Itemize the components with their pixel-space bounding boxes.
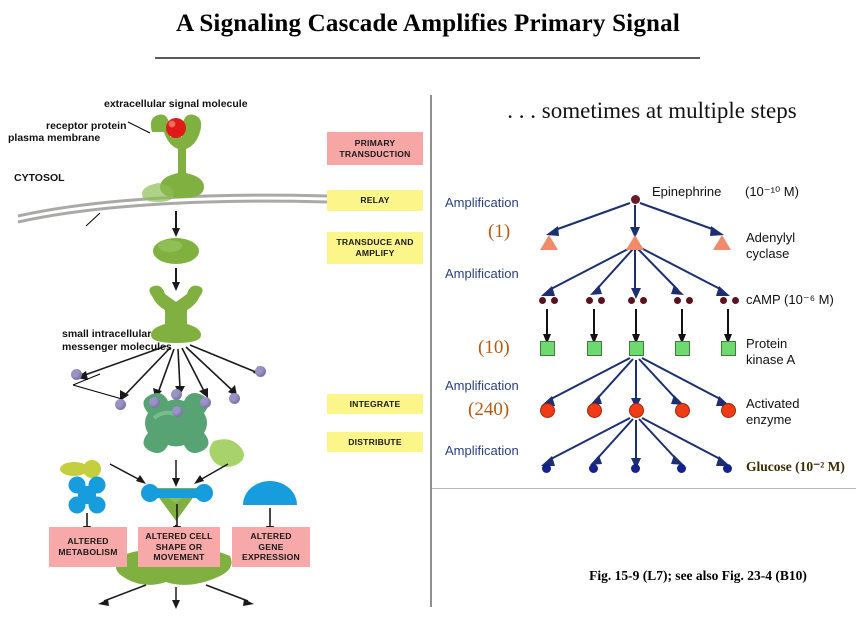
row-label-glucose: Glucose (10⁻² M) [746, 459, 845, 476]
stage-box-line1: DISTRIBUTE [348, 437, 402, 448]
messenger-molecule-dot [200, 397, 211, 408]
effector-dumbbell-shape [141, 484, 213, 502]
node-camp [539, 297, 546, 304]
right-panel-rule [432, 488, 856, 489]
node-camp [720, 297, 727, 304]
node-epinephrine [631, 195, 640, 204]
messenger-molecule-dot [149, 397, 160, 408]
messenger-molecule-dot [171, 389, 182, 400]
node-adenylyl-cyclase [626, 235, 644, 250]
node-protein-kinase-a [540, 341, 555, 356]
node-camp [640, 297, 647, 304]
effector-dome-shape [243, 481, 297, 505]
title-divider [155, 57, 700, 59]
stage-box-primary-transduction: PRIMARY TRANSDUCTION [327, 132, 423, 165]
node-glucose [589, 464, 598, 473]
outcome-line3: MOVEMENT [153, 552, 204, 562]
messenger-molecule-dot [115, 399, 126, 410]
messenger-molecule-dot [229, 393, 240, 404]
node-camp [732, 297, 739, 304]
label-messenger-molecules-line1: small intracellular [62, 328, 151, 340]
node-activated-enzyme [629, 403, 644, 418]
node-glucose [631, 464, 640, 473]
label-cytosol: CYTOSOL [14, 172, 65, 184]
label-plasma-membrane: plasma membrane [8, 132, 100, 144]
stage-box-line1: TRANSDUCE AND [336, 237, 413, 247]
page-title: A Signaling Cascade Amplifies Primary Si… [0, 10, 856, 38]
row-label-activated-enzyme-line2: enzyme [746, 412, 792, 428]
node-camp [674, 297, 681, 304]
row-label-adenylyl-cyclase-line2: cyclase [746, 246, 789, 262]
messenger-molecule-dot [172, 406, 183, 417]
node-activated-enzyme [721, 403, 736, 418]
node-camp [598, 297, 605, 304]
row-label-epinephrine: Epinephrine [652, 184, 721, 200]
node-camp [628, 297, 635, 304]
node-adenylyl-cyclase [540, 235, 558, 250]
stage-box-integrate: INTEGRATE [327, 394, 423, 414]
outcome-line2: GENE [258, 542, 283, 552]
outcome-box-altered-cell-shape: ALTERED CELL SHAPE OR MOVEMENT [138, 527, 220, 567]
outcome-line1: ALTERED [250, 531, 291, 541]
row-label-camp: cAMP (10⁻⁶ M) [746, 292, 834, 308]
row-label-adenylyl-cyclase-line1: Adenylyl [746, 230, 795, 246]
outcome-line1: ALTERED [67, 536, 108, 546]
amplification-label: Amplification [445, 195, 519, 210]
node-activated-enzyme [675, 403, 690, 418]
node-protein-kinase-a [675, 341, 690, 356]
effector-x-shape [69, 477, 106, 514]
outcome-line2: SHAPE OR [156, 542, 203, 552]
amplification-value-1: (1) [488, 221, 510, 243]
outcome-line1: ALTERED CELL [145, 531, 212, 541]
messenger-molecule-dot [255, 366, 266, 377]
outcome-box-altered-gene-expression: ALTERED GENE EXPRESSION [232, 527, 310, 567]
node-camp [586, 297, 593, 304]
amplification-value-10: (10) [478, 337, 510, 359]
stage-box-line1: INTEGRATE [350, 399, 401, 410]
node-protein-kinase-a [629, 341, 644, 356]
stage-box-transduce-and-amplify: TRANSDUCE AND AMPLIFY [327, 232, 423, 264]
stage-box-line2: AMPLIFY [355, 248, 394, 258]
row-label-protein-kinase-a-line1: Protein [746, 336, 787, 352]
row-label-protein-kinase-a-line2: kinase A [746, 352, 795, 368]
stage-box-line1: PRIMARY [355, 138, 396, 148]
node-glucose [677, 464, 686, 473]
stage-box-distribute: DISTRIBUTE [327, 432, 423, 452]
label-extracellular-signal-molecule: extracellular signal molecule [104, 98, 248, 110]
outcome-box-altered-metabolism: ALTERED METABOLISM [49, 527, 127, 567]
row-label-activated-enzyme-line1: Activated [746, 396, 799, 412]
messenger-molecule-dot [71, 369, 82, 380]
node-protein-kinase-a [587, 341, 602, 356]
node-glucose [542, 464, 551, 473]
node-adenylyl-cyclase [713, 235, 731, 250]
outcome-line2: METABOLISM [58, 547, 117, 557]
row-label-epinephrine-concentration: (10⁻¹⁰ M) [745, 184, 799, 200]
stage-box-line2: TRANSDUCTION [339, 149, 410, 159]
node-camp [686, 297, 693, 304]
node-glucose [723, 464, 732, 473]
label-receptor-protein: receptor protein [46, 120, 127, 132]
outcome-line3: EXPRESSION [242, 552, 300, 562]
amplification-value-240: (240) [468, 399, 509, 421]
stage-box-relay: RELAY [327, 190, 423, 211]
stage-box-line1: RELAY [360, 195, 389, 206]
node-activated-enzyme [540, 403, 555, 418]
node-protein-kinase-a [721, 341, 736, 356]
node-activated-enzyme [587, 403, 602, 418]
amplification-label: Amplification [445, 443, 519, 458]
amplification-cascade-diagram: Amplification (1) Amplification (10) Amp… [430, 88, 856, 608]
figure-citation: Fig. 15-9 (L7); see also Fig. 23-4 (B10) [540, 568, 856, 584]
label-messenger-molecules-line2: messenger molecules [62, 341, 172, 353]
amplification-label: Amplification [445, 266, 519, 281]
node-camp [551, 297, 558, 304]
amplification-label: Amplification [445, 378, 519, 393]
